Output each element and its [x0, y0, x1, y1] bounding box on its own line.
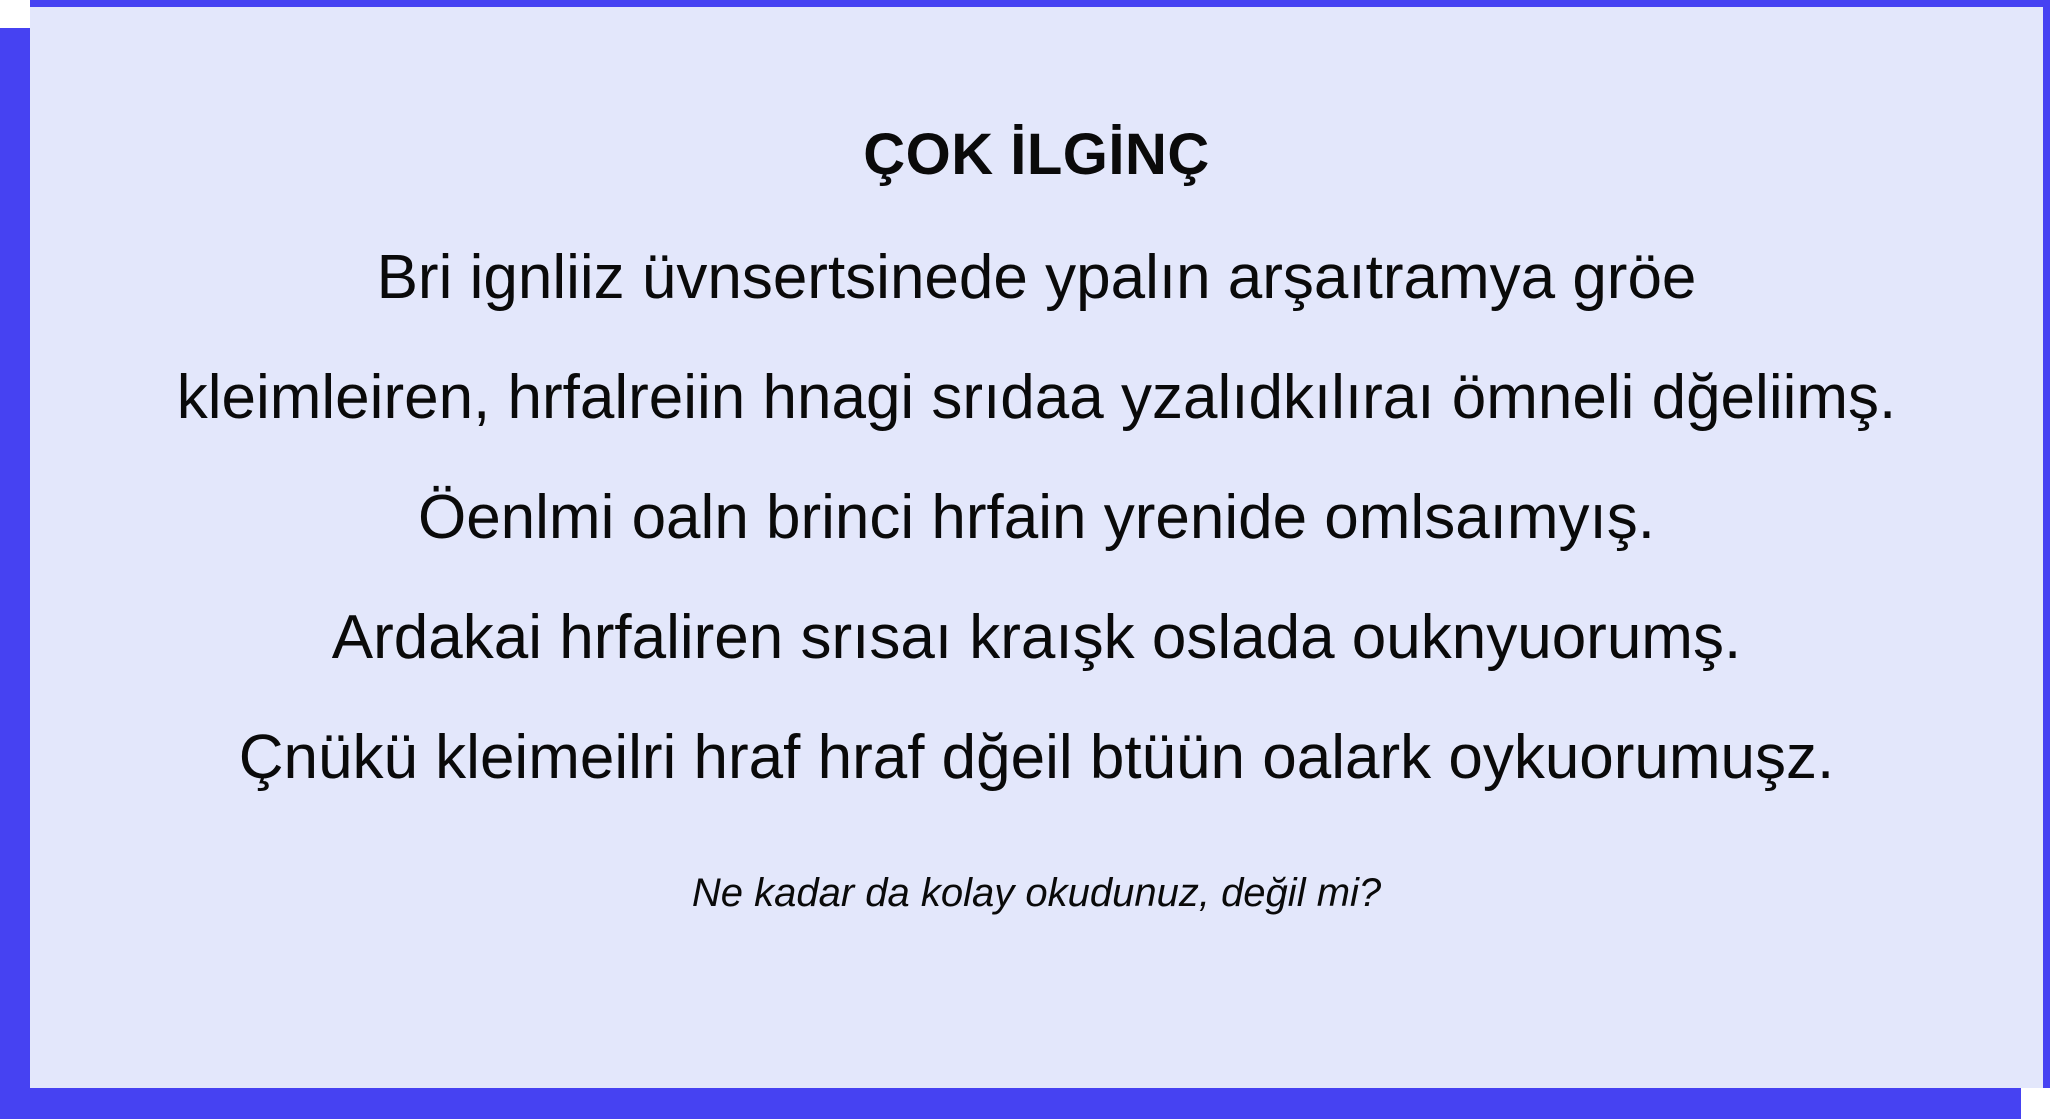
paragraph-line-1: Bri ignliiz üvnsertsinede ypalın arşaıtr…: [70, 247, 2003, 309]
page-title: ÇOK İLGİNÇ: [70, 123, 2003, 187]
paragraph-line-3: Öenlmi oaln brinci hrfain yrenide omlsaı…: [70, 487, 2003, 549]
paragraph-line-5: Çnükü kleimeilri hraf hraf dğeil btüün o…: [70, 727, 2003, 789]
paragraph-line-4: Ardakai hrfaliren srısaı kraışk oslada o…: [70, 607, 2003, 669]
paragraph-line-2: kleimleiren, hrfalreiin hnagi srıdaa yza…: [70, 367, 2003, 429]
slide-stage: ÇOK İLGİNÇ Bri ignliiz üvnsertsinede ypa…: [0, 0, 2050, 1119]
content-block: ÇOK İLGİNÇ Bri ignliiz üvnsertsinede ypa…: [30, 7, 2043, 915]
footer-note: Ne kadar da kolay okudunuz, değil mi?: [70, 871, 2003, 915]
content-panel: ÇOK İLGİNÇ Bri ignliiz üvnsertsinede ypa…: [30, 0, 2050, 1088]
paragraph-block: Bri ignliiz üvnsertsinede ypalın arşaıtr…: [70, 247, 2003, 789]
